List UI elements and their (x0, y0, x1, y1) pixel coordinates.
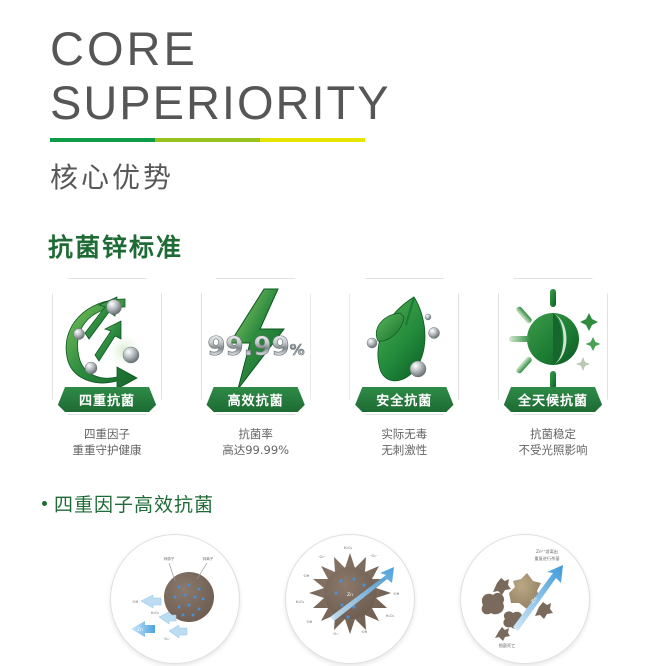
diagram-arrow-label-3: ·O₂⁻ (163, 637, 170, 641)
gradient-segment-yellow (260, 138, 365, 142)
page-title-line2: SUPERIORITY (50, 76, 610, 130)
badge-item: 全天候抗菌 抗菌稳定 不受光照影响 (486, 278, 620, 458)
diagram-top-label-line1: Zn²⁺游离出 (536, 548, 558, 555)
badge-value-text: 99.99% (207, 332, 304, 362)
badge-item: 安全抗菌 实际无毒 无刺激性 (337, 278, 471, 458)
sun-moon-icon (501, 285, 605, 393)
diagram-arrow-label-2: H₂O₂ (151, 611, 160, 615)
badge-caption-line1: 抗菌稳定 (518, 426, 587, 442)
page-header: CORE SUPERIORITY 核心优势 (50, 22, 610, 196)
diagram-label-6: ·OH (306, 620, 313, 624)
leaf-icon (352, 285, 456, 393)
badge-ribbon: 四重抗菌 (55, 387, 159, 412)
diagram-label-7: ·O₂⁻ (332, 632, 339, 636)
diagram-label-4: ·OH (303, 574, 310, 578)
recycle-arrows-icon (55, 285, 159, 393)
diagram-bottom-label: 细菌死亡 (499, 642, 516, 649)
diagram-row: 锌原子 锌离子 Zn ·OH H₂O₂ ·O₂⁻ (110, 534, 590, 664)
badge-row: 四重抗菌 四重因子 重重守护健康 99. (40, 278, 620, 458)
badge-caption-line1: 抗菌率 (222, 426, 289, 442)
badge-card: 99.99% 高效抗菌 (201, 278, 311, 415)
diagram-arrow-label-1: ·OH (132, 600, 139, 604)
diagram-circle-3: Zn Zn²⁺游离出 重复进行杀菌 细菌死亡 (460, 534, 590, 664)
diagram-label-2: ·O₂⁻ (370, 554, 377, 558)
badge-card: 全天候抗菌 (498, 278, 608, 415)
badge-ribbon: 全天候抗菌 (501, 387, 605, 412)
badge-caption-line1: 四重因子 (73, 426, 142, 442)
badge-caption: 实际无毒 无刺激性 (381, 426, 427, 458)
diagram-top-label-line2: 重复进行杀菌 (534, 555, 559, 562)
badge-caption-line2: 不受光照影响 (518, 442, 587, 458)
badge-caption-line1: 实际无毒 (381, 426, 427, 442)
diagram-label-8: ·OH (361, 630, 368, 634)
badge-card: 安全抗菌 (349, 278, 459, 415)
diagram-arrow-label-zn: Zn (137, 627, 143, 633)
bacteria-attack-diagram: Zn H₂O₂ ·O₂⁻ ·O₂⁻ ·OH H₂O₂ ·OH ·O₂⁻ ·OH … (286, 535, 414, 663)
badge-caption-line2: 重重守护健康 (73, 442, 142, 458)
diagram-label-1: H₂O₂ (344, 546, 353, 550)
diagram-label-top-right: 锌离子 (203, 556, 214, 561)
bacteria-death-diagram: Zn Zn²⁺游离出 重复进行杀菌 细菌死亡 (461, 535, 589, 663)
lightning-bolt-icon: 99.99% (204, 285, 308, 393)
page-title-cn: 核心优势 (50, 156, 610, 196)
diagram-label-3: ·O₂⁻ (318, 555, 325, 559)
badge-ribbon: 安全抗菌 (352, 387, 456, 412)
diagram-circle-1: 锌原子 锌离子 Zn ·OH H₂O₂ ·O₂⁻ (110, 534, 240, 664)
diagram-label-5: H₂O₂ (296, 600, 305, 604)
bullet-heading-text: 四重因子高效抗菌 (54, 490, 214, 517)
badge-caption-line2: 高达99.99% (222, 442, 289, 458)
diagram-label-9: H₂O₂ (386, 614, 395, 618)
gradient-segment-green (50, 138, 155, 142)
bullet-heading: 四重因子高效抗菌 (42, 490, 214, 517)
badge-caption: 四重因子 重重守护健康 (73, 426, 142, 458)
badge-ribbon: 高效抗菌 (204, 387, 308, 412)
gradient-segment-lime (155, 138, 260, 142)
gradient-divider (50, 138, 365, 142)
bullet-dot-icon (42, 501, 47, 506)
badge-caption-line2: 无刺激性 (381, 442, 427, 458)
diagram-center-label: Zn (347, 592, 353, 598)
diagram-circle-2: Zn H₂O₂ ·O₂⁻ ·O₂⁻ ·OH H₂O₂ ·OH ·O₂⁻ ·OH … (285, 534, 415, 664)
section-title: 抗菌锌标准 (48, 228, 183, 264)
page-title-line1: CORE (50, 22, 610, 76)
diagram-label-top-left: 锌原子 (164, 556, 175, 561)
badge-item: 99.99% 高效抗菌 抗菌率 高达99.99% (189, 278, 323, 458)
diagram-label-10: ·OH (393, 592, 400, 596)
badge-card: 四重抗菌 (52, 278, 162, 415)
badge-caption: 抗菌率 高达99.99% (222, 426, 289, 458)
badge-caption: 抗菌稳定 不受光照影响 (518, 426, 587, 458)
badge-item: 四重抗菌 四重因子 重重守护健康 (40, 278, 174, 458)
zinc-ion-release-diagram: 锌原子 锌离子 Zn ·OH H₂O₂ ·O₂⁻ (111, 535, 239, 663)
